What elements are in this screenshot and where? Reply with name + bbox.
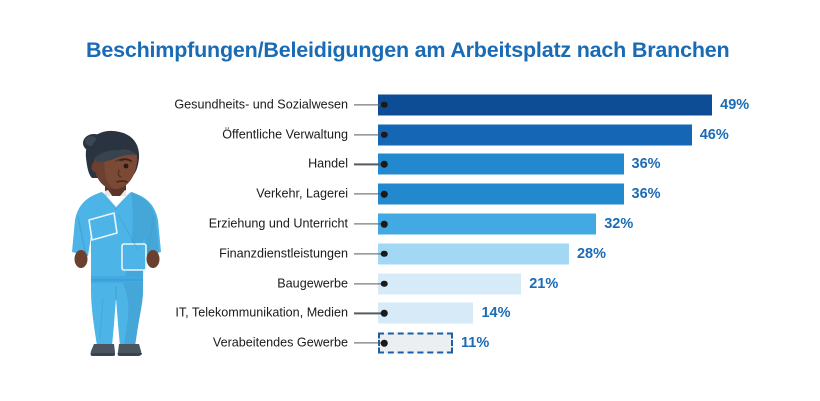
bar xyxy=(378,273,521,294)
bar-start-dot xyxy=(381,191,388,198)
value-label: 49% xyxy=(720,98,749,113)
bar-start-dot xyxy=(381,221,388,228)
category-label: Baugewerbe xyxy=(277,277,348,290)
category-label: Handel xyxy=(308,158,348,171)
bar-row: Verkehr, Lagerei36% xyxy=(0,179,820,209)
bar-row: Erziehung und Unterricht32% xyxy=(0,209,820,239)
bar xyxy=(378,243,569,264)
bar-row: Verabeitendes Gewerbe11% xyxy=(0,328,820,358)
value-label: 36% xyxy=(632,157,661,172)
chart-container: Beschimpfungen/Beleidigungen am Arbeitsp… xyxy=(0,0,820,401)
category-label: Erziehung und Unterricht xyxy=(209,218,348,231)
bar xyxy=(378,303,473,324)
bar-start-dot xyxy=(381,102,388,109)
value-label: 32% xyxy=(604,217,633,232)
value-label: 21% xyxy=(529,276,558,291)
bar xyxy=(378,154,624,175)
value-label: 46% xyxy=(700,127,729,142)
value-label: 11% xyxy=(461,336,489,351)
category-label: Gesundheits- und Sozialwesen xyxy=(174,99,348,112)
bar-row: IT, Telekommunikation, Medien14% xyxy=(0,299,820,329)
bar-row: Öffentliche Verwaltung46% xyxy=(0,120,820,150)
bars-plot-area: Gesundheits- und Sozialwesen49%Öffentlic… xyxy=(0,88,820,360)
chart-title: Beschimpfungen/Beleidigungen am Arbeitsp… xyxy=(86,38,729,63)
bar-start-dot xyxy=(381,161,388,168)
category-label: Verabeitendes Gewerbe xyxy=(213,337,348,350)
category-label: Finanzdienstleistungen xyxy=(219,248,348,261)
bar-start-dot xyxy=(381,280,388,287)
value-label: 36% xyxy=(632,187,661,202)
bar-start-dot xyxy=(381,310,388,317)
bar xyxy=(378,184,624,205)
category-label: Verkehr, Lagerei xyxy=(256,188,348,201)
bar-start-dot xyxy=(381,340,388,347)
value-label: 28% xyxy=(577,247,606,262)
bar-start-dot xyxy=(381,131,388,138)
bar-row: Baugewerbe21% xyxy=(0,269,820,299)
bar-start-dot xyxy=(381,251,388,258)
category-label: Öffentliche Verwaltung xyxy=(222,128,348,141)
category-label: IT, Telekommunikation, Medien xyxy=(175,307,348,320)
bar xyxy=(378,214,596,235)
bar xyxy=(378,94,712,115)
bar-row: Handel36% xyxy=(0,150,820,180)
value-label: 14% xyxy=(481,306,510,321)
bar-row: Gesundheits- und Sozialwesen49% xyxy=(0,90,820,120)
bar-row: Finanzdienstleistungen28% xyxy=(0,239,820,269)
bar xyxy=(378,333,453,354)
bar xyxy=(378,124,692,145)
